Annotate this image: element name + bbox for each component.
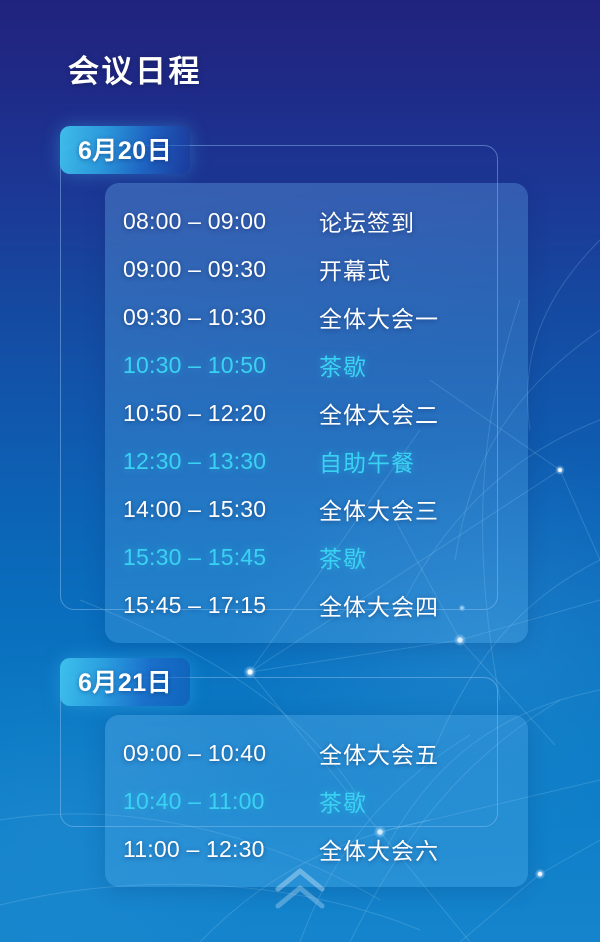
session-topic: 开幕式 bbox=[319, 252, 391, 286]
session-topic: 茶歇 bbox=[319, 348, 367, 382]
scroll-up-hint[interactable] bbox=[272, 865, 328, 916]
session-time: 11:00 – 12:30 bbox=[123, 836, 319, 863]
schedule-card: 08:00 – 09:00 论坛签到 09:00 – 09:30 开幕式 09:… bbox=[105, 183, 528, 643]
session-time: 15:45 – 17:15 bbox=[123, 592, 319, 619]
schedule-card: 09:00 – 10:40 全体大会五 10:40 – 11:00 茶歇 11:… bbox=[105, 715, 528, 887]
schedule-row[interactable]: 09:00 – 10:40 全体大会五 bbox=[105, 729, 528, 777]
session-time: 09:30 – 10:30 bbox=[123, 304, 319, 331]
session-time: 14:00 – 15:30 bbox=[123, 496, 319, 523]
date-badge[interactable]: 6月21日 bbox=[60, 658, 190, 706]
schedule-row[interactable]: 09:30 – 10:30 全体大会一 bbox=[105, 293, 528, 341]
schedule-row[interactable]: 10:30 – 10:50 茶歇 bbox=[105, 341, 528, 389]
session-topic: 论坛签到 bbox=[319, 204, 415, 238]
double-chevron-up-icon bbox=[272, 865, 328, 911]
schedule-row[interactable]: 10:50 – 12:20 全体大会二 bbox=[105, 389, 528, 437]
session-time: 09:00 – 09:30 bbox=[123, 256, 319, 283]
session-topic: 茶歇 bbox=[319, 784, 367, 818]
session-time: 10:50 – 12:20 bbox=[123, 400, 319, 427]
session-time: 08:00 – 09:00 bbox=[123, 208, 319, 235]
session-topic: 全体大会六 bbox=[319, 832, 439, 866]
day-section: 6月20日 08:00 – 09:00 论坛签到 09:00 – 09:30 开… bbox=[60, 126, 540, 643]
session-topic: 自助午餐 bbox=[319, 444, 415, 478]
session-topic: 全体大会一 bbox=[319, 300, 439, 334]
session-time: 10:40 – 11:00 bbox=[123, 788, 319, 815]
date-badge[interactable]: 6月20日 bbox=[60, 126, 190, 174]
session-time: 10:30 – 10:50 bbox=[123, 352, 319, 379]
schedule-row[interactable]: 15:45 – 17:15 全体大会四 bbox=[105, 581, 528, 629]
session-time: 09:00 – 10:40 bbox=[123, 740, 319, 767]
session-topic: 全体大会四 bbox=[319, 588, 439, 622]
schedule-row[interactable]: 14:00 – 15:30 全体大会三 bbox=[105, 485, 528, 533]
page-title: 会议日程 bbox=[68, 46, 202, 91]
schedule-row[interactable]: 10:40 – 11:00 茶歇 bbox=[105, 777, 528, 825]
session-time: 12:30 – 13:30 bbox=[123, 448, 319, 475]
schedule-row[interactable]: 15:30 – 15:45 茶歇 bbox=[105, 533, 528, 581]
schedule-row[interactable]: 09:00 – 09:30 开幕式 bbox=[105, 245, 528, 293]
day-section: 6月21日 09:00 – 10:40 全体大会五 10:40 – 11:00 … bbox=[60, 658, 540, 887]
schedule-row[interactable]: 08:00 – 09:00 论坛签到 bbox=[105, 197, 528, 245]
session-time: 15:30 – 15:45 bbox=[123, 544, 319, 571]
session-topic: 全体大会二 bbox=[319, 396, 439, 430]
session-topic: 全体大会三 bbox=[319, 492, 439, 526]
schedule-row[interactable]: 12:30 – 13:30 自助午餐 bbox=[105, 437, 528, 485]
session-topic: 茶歇 bbox=[319, 540, 367, 574]
session-topic: 全体大会五 bbox=[319, 736, 439, 770]
